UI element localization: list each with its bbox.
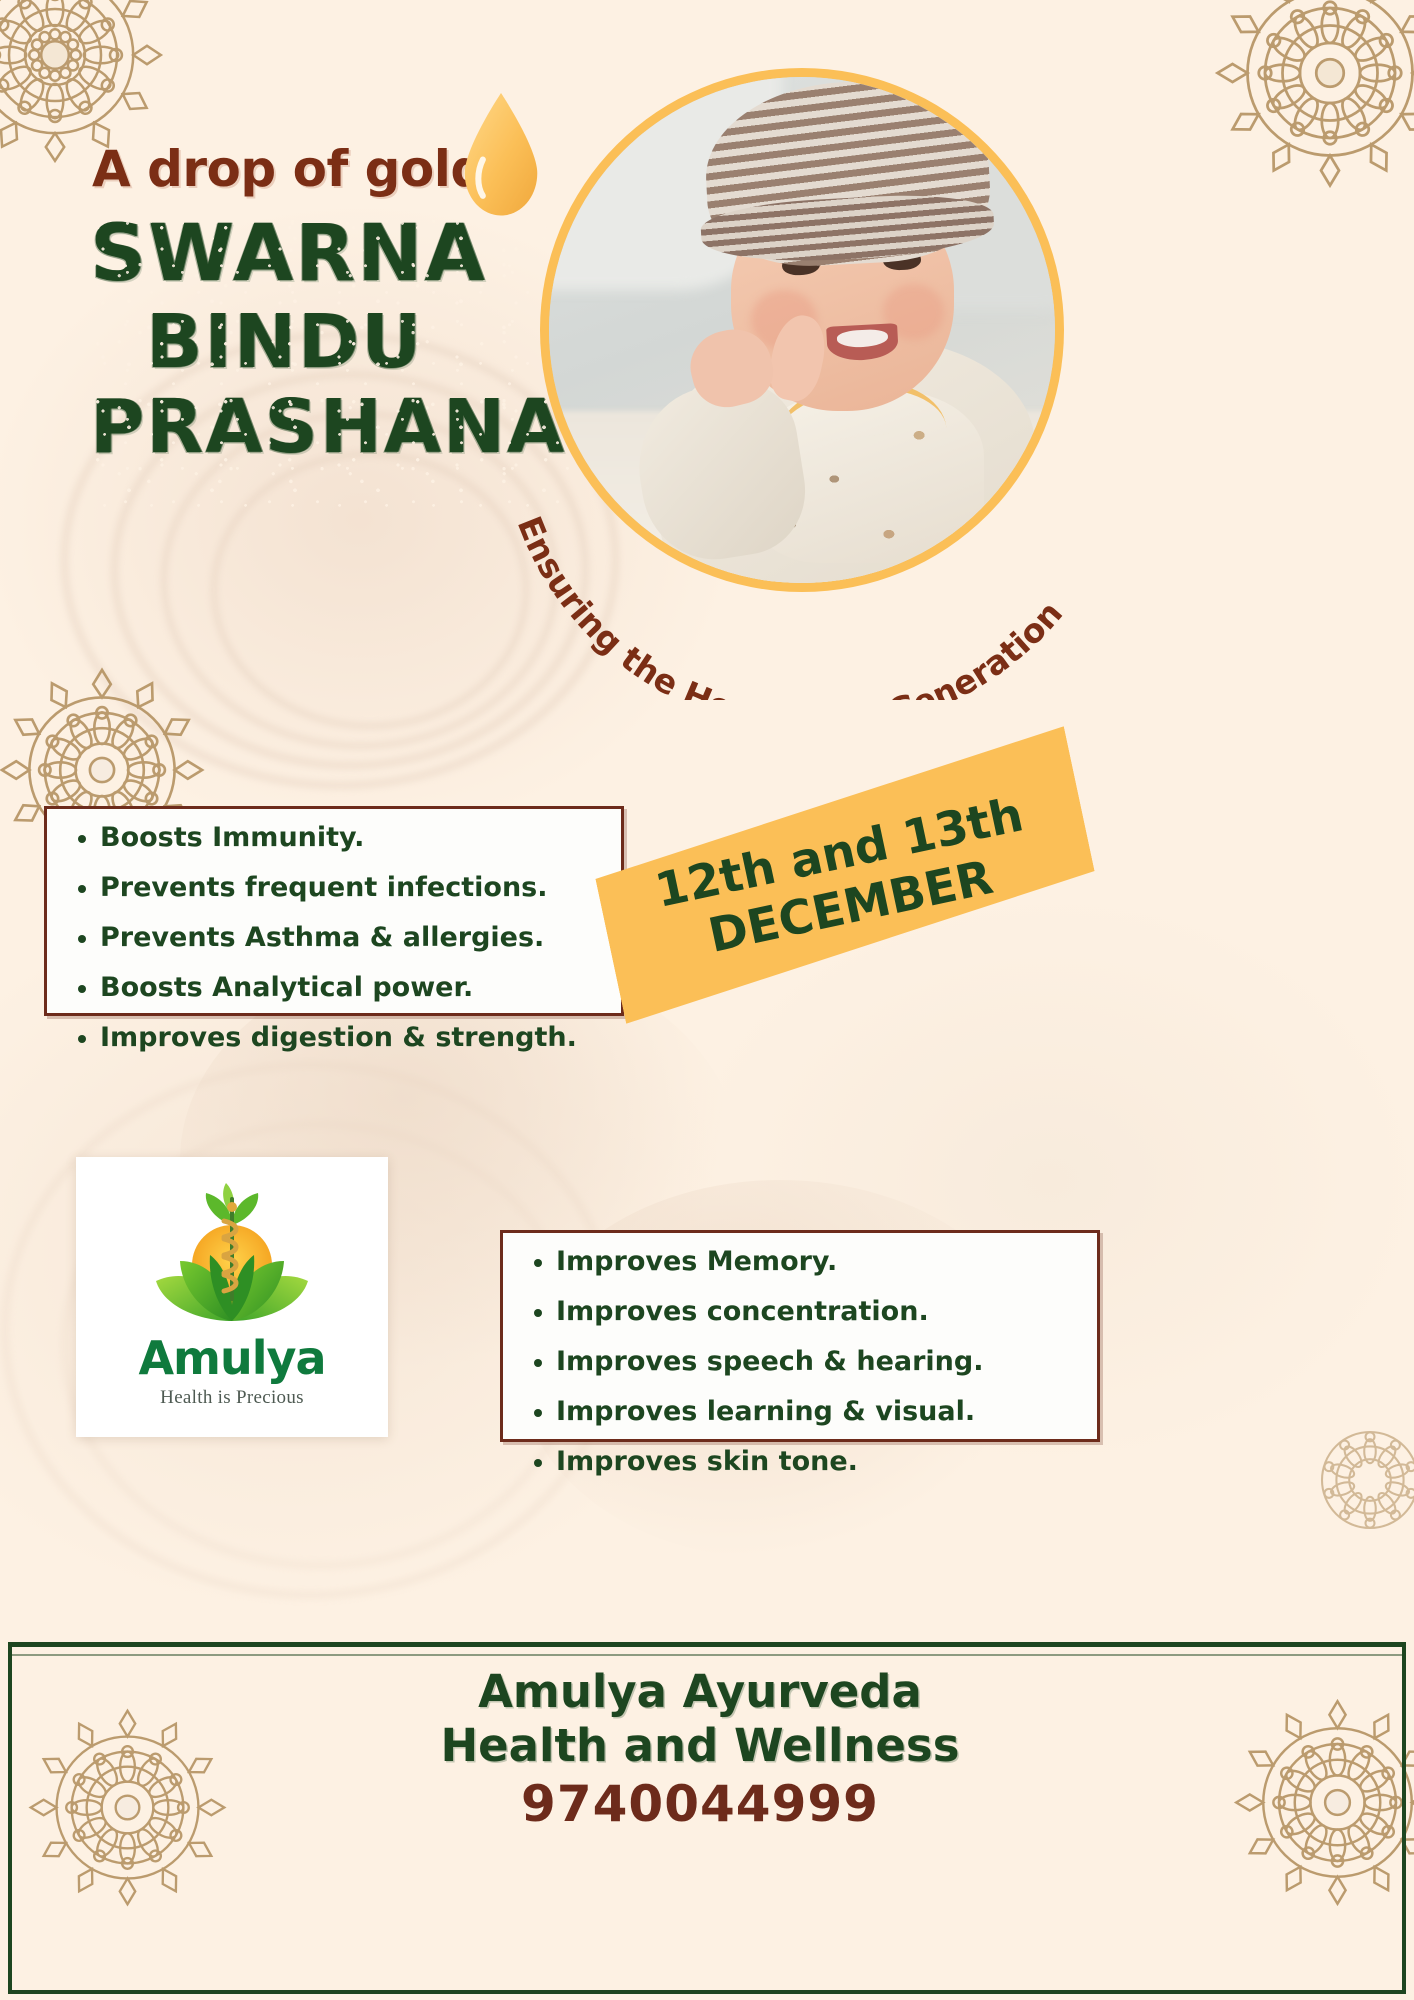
benefit-left-item: Prevents frequent infections. xyxy=(44,872,624,903)
benefit-right-label: Improves Memory. xyxy=(556,1246,837,1277)
benefit-right-item: Improves Memory. xyxy=(500,1246,1100,1277)
footer-org-line-2: Health and Wellness xyxy=(390,1719,1010,1773)
gold-droplet-icon xyxy=(455,90,547,220)
bullet-dot-icon xyxy=(78,935,86,943)
benefit-left-label: Prevents frequent infections. xyxy=(100,872,548,903)
benefit-right-item: Improves concentration. xyxy=(500,1296,1100,1327)
benefit-left-label: Improves digestion & strength. xyxy=(100,1022,577,1053)
benefit-left-label: Prevents Asthma & allergies. xyxy=(100,922,544,953)
mandala-ornament-icon xyxy=(1290,1400,1414,1560)
bullet-dot-icon xyxy=(78,985,86,993)
bullet-dot-icon xyxy=(534,1459,542,1467)
footer-phone[interactable]: 9740044999 xyxy=(390,1775,1010,1833)
benefit-right-item: Improves skin tone. xyxy=(500,1446,1100,1477)
mandala-ornament-icon xyxy=(1205,0,1414,198)
footer-org-name: Amulya Ayurveda Health and Wellness xyxy=(390,1665,1010,1773)
tagline-arc: Ensuring the Health of a Generation xyxy=(470,440,1150,700)
benefit-left-item: Prevents Asthma & allergies. xyxy=(44,922,624,953)
bullet-dot-icon xyxy=(534,1409,542,1417)
bullet-dot-icon xyxy=(78,885,86,893)
benefits-left-list-wrap: Boosts Immunity.Prevents frequent infect… xyxy=(44,806,624,1072)
bullet-dot-icon xyxy=(534,1309,542,1317)
main-title: SWARNA BINDU PRASHANA xyxy=(90,215,560,465)
poster-canvas: A drop of gold SWARNA BINDU PRASHANA xyxy=(0,0,1414,2000)
footer-divider-thin xyxy=(8,1654,1406,1656)
benefit-left-item: Boosts Immunity. xyxy=(44,822,624,853)
benefit-left-label: Boosts Analytical power. xyxy=(100,972,473,1003)
benefit-right-item: Improves learning & visual. xyxy=(500,1396,1100,1427)
lotus-caduceus-icon xyxy=(138,1181,326,1333)
benefits-left-list: Boosts Immunity.Prevents frequent infect… xyxy=(44,806,624,1053)
benefit-right-label: Improves learning & visual. xyxy=(556,1396,975,1427)
benefit-right-item: Improves speech & hearing. xyxy=(500,1346,1100,1377)
bullet-dot-icon xyxy=(78,1035,86,1043)
headline-a-drop-of-gold: A drop of gold xyxy=(92,140,486,198)
benefit-right-label: Improves skin tone. xyxy=(556,1446,858,1477)
logo-tagline: Health is Precious xyxy=(160,1387,304,1409)
bullet-dot-icon xyxy=(534,1359,542,1367)
footer-divider xyxy=(8,1642,1406,1647)
amulya-logo-card: Amulya Health is Precious xyxy=(76,1157,388,1437)
tagline-text: Ensuring the Health of a Generation xyxy=(510,511,1070,700)
benefits-right-list: Improves Memory.Improves concentration.I… xyxy=(500,1230,1100,1477)
benefit-left-item: Improves digestion & strength. xyxy=(44,1022,624,1053)
benefit-left-item: Boosts Analytical power. xyxy=(44,972,624,1003)
footer-org-line-1: Amulya Ayurveda xyxy=(390,1665,1010,1719)
bullet-dot-icon xyxy=(534,1259,542,1267)
bullet-dot-icon xyxy=(78,835,86,843)
benefits-right-list-wrap: Improves Memory.Improves concentration.I… xyxy=(500,1230,1100,1496)
svg-text:Ensuring the Health of a Gener: Ensuring the Health of a Generation xyxy=(510,511,1070,700)
benefit-left-label: Boosts Immunity. xyxy=(100,822,364,853)
benefit-right-label: Improves concentration. xyxy=(556,1296,929,1327)
title-line-1: SWARNA xyxy=(90,215,560,295)
benefit-right-label: Improves speech & hearing. xyxy=(556,1346,983,1377)
logo-name: Amulya xyxy=(138,1331,325,1385)
title-line-2: BINDU xyxy=(90,305,560,380)
